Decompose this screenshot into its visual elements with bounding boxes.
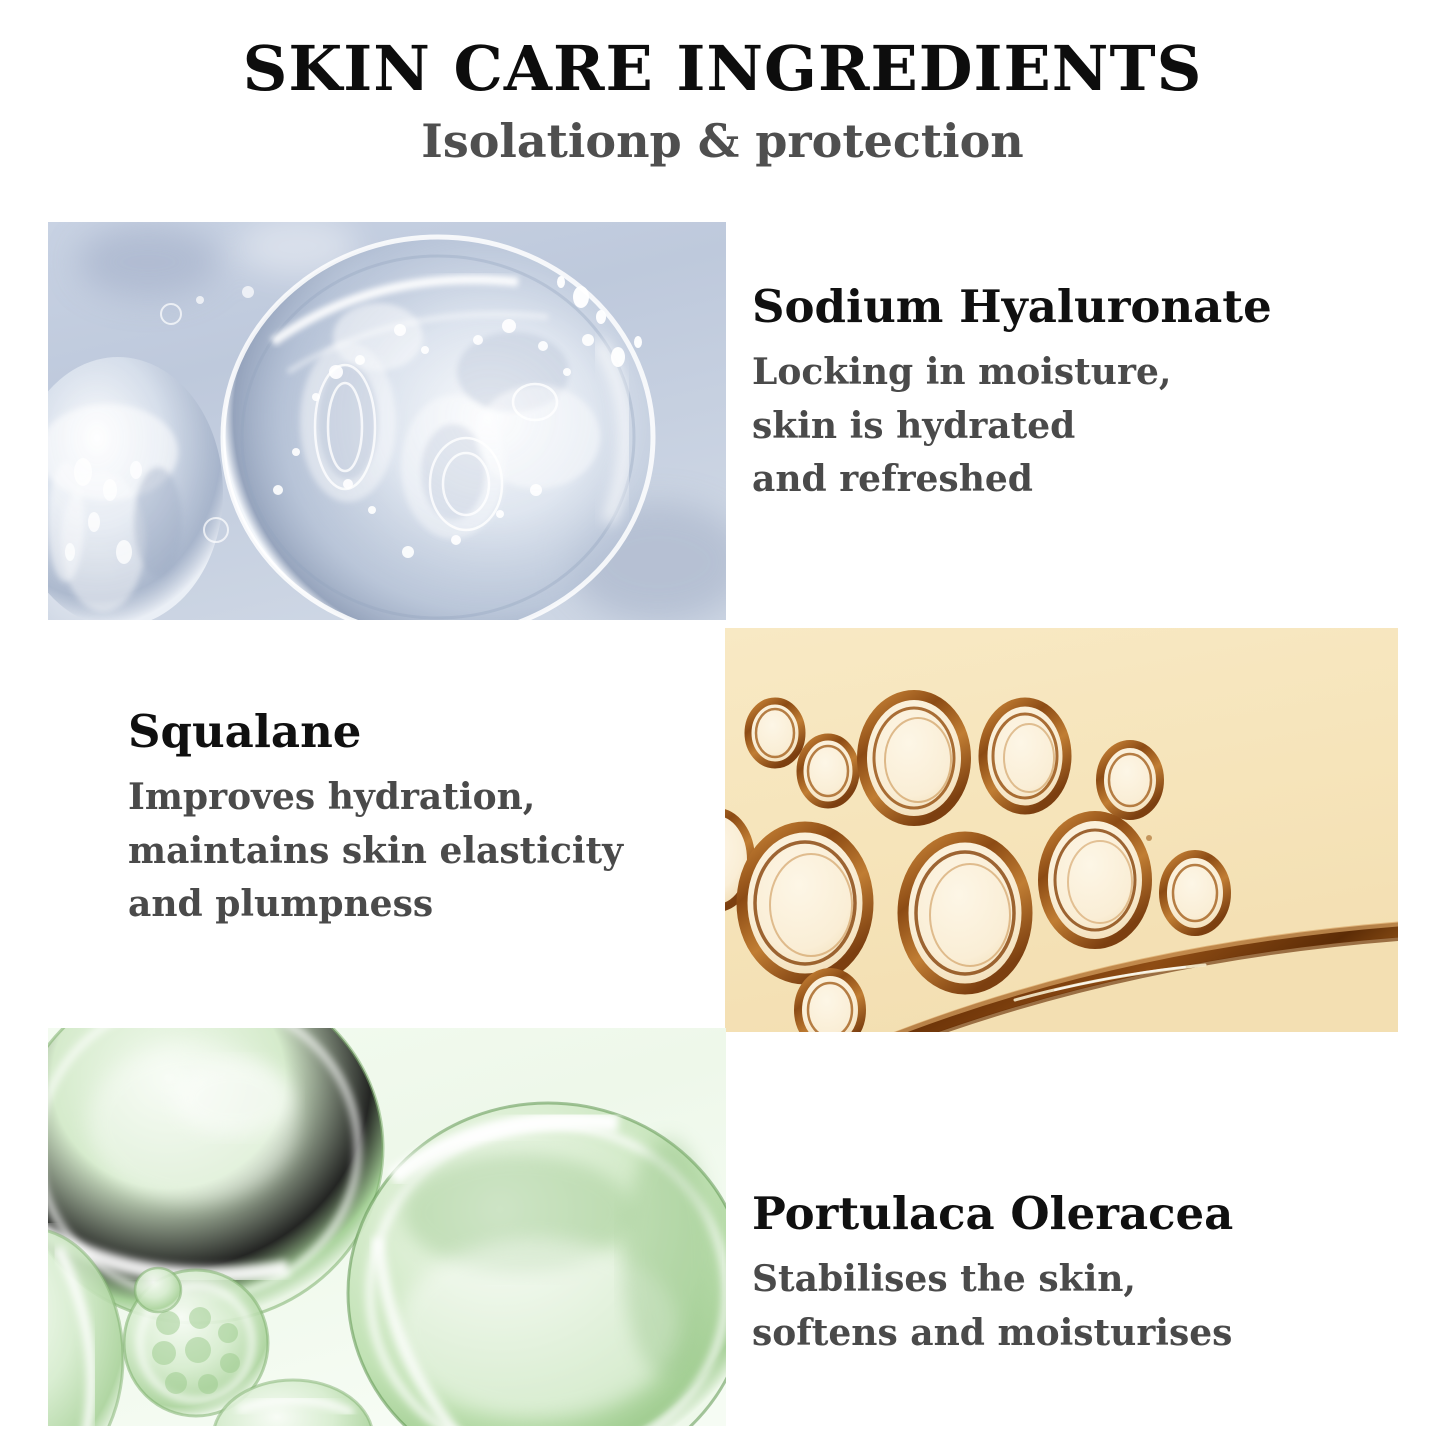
- blue-gel-bubbles-photo: [48, 222, 726, 620]
- ingredient-description-line: skin is hydrated: [752, 400, 1272, 453]
- ingredient-description-line: Stabilises the skin,: [752, 1253, 1233, 1306]
- page-subtitle: Isolationp & protection: [0, 101, 1445, 165]
- ingredient-block-squalane: Squalane Improves hydration, maintains s…: [128, 708, 623, 931]
- page-title: SKIN CARE INGREDIENTS: [0, 0, 1445, 101]
- ingredient-description-line: and refreshed: [752, 453, 1272, 506]
- ingredient-block-sodium-hyaluronate: Sodium Hyaluronate Locking in moisture, …: [752, 283, 1272, 506]
- green-gel-illustration: [48, 1028, 726, 1426]
- ingredient-description-line: Improves hydration,: [128, 771, 623, 824]
- blue-gel-illustration: [48, 222, 726, 620]
- amber-oil-illustration: [725, 628, 1398, 1032]
- ingredient-description-line: and plumpness: [128, 878, 623, 931]
- ingredient-name-portulaca-oleracea: Portulaca Oleracea: [752, 1190, 1233, 1237]
- green-gel-bubbles-photo: [48, 1028, 726, 1426]
- ingredient-description-line: softens and moisturises: [752, 1307, 1233, 1360]
- amber-oil-bubbles-photo: [725, 628, 1398, 1032]
- header: SKIN CARE INGREDIENTS Isolationp & prote…: [0, 0, 1445, 165]
- ingredient-name-squalane: Squalane: [128, 708, 623, 755]
- infographic-page: SKIN CARE INGREDIENTS Isolationp & prote…: [0, 0, 1445, 1445]
- ingredient-description-line: Locking in moisture,: [752, 346, 1272, 399]
- ingredient-name-sodium-hyaluronate: Sodium Hyaluronate: [752, 283, 1272, 330]
- ingredient-block-portulaca-oleracea: Portulaca Oleracea Stabilises the skin, …: [752, 1190, 1233, 1360]
- ingredient-description-line: maintains skin elasticity: [128, 825, 623, 878]
